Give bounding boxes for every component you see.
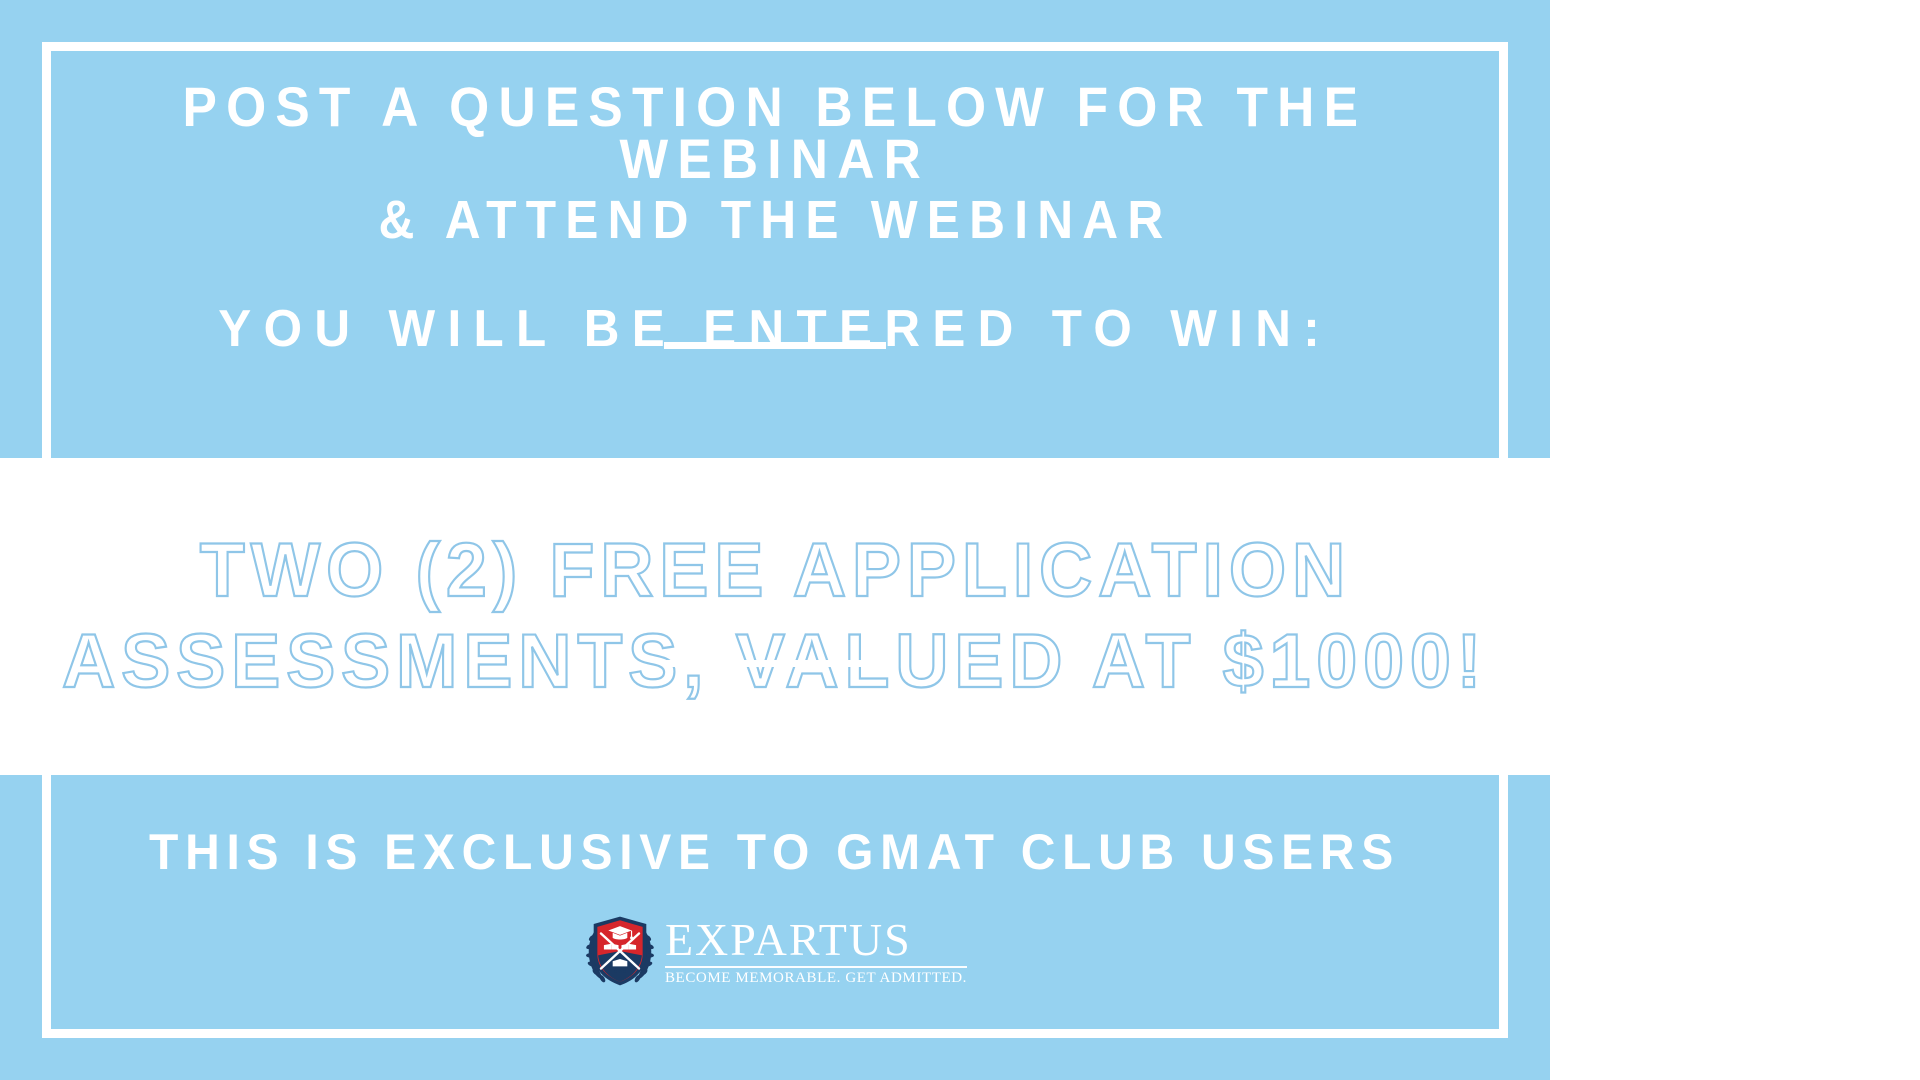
divider-rule-bottom	[664, 660, 886, 667]
prize-line-1: Two (2) free application	[199, 530, 1350, 612]
logo-wordmark-column: EXPARTUS Become Memorable. Get Admitted.	[665, 917, 967, 986]
promo-graphic: Post a question below for the webinar & …	[0, 0, 1550, 1080]
expartus-logo: EXPARTUS Become Memorable. Get Admitted.	[583, 913, 967, 989]
logo-divider-rule	[665, 966, 967, 968]
prize-band: Two (2) free application assessments, va…	[0, 458, 1550, 775]
top-panel: Post a question below for the webinar & …	[51, 51, 1499, 458]
frame-border-top	[42, 42, 1508, 51]
headline-line-3: & attend the webinar	[378, 193, 1172, 247]
subheadline: You will be entered to win:	[218, 301, 1332, 358]
divider-rule-top	[664, 342, 886, 349]
exclusivity-text: This is exclusive to GMAT Club users	[150, 823, 1401, 881]
headline-line-2: webinar	[620, 131, 931, 187]
frame-border-bottom	[42, 1029, 1508, 1038]
shield-laurel-icon	[583, 913, 657, 989]
logo-wordmark: EXPARTUS	[665, 917, 967, 963]
bottom-panel: This is exclusive to GMAT Club users	[51, 775, 1499, 1029]
logo-tagline: Become Memorable. Get Admitted.	[665, 971, 967, 986]
